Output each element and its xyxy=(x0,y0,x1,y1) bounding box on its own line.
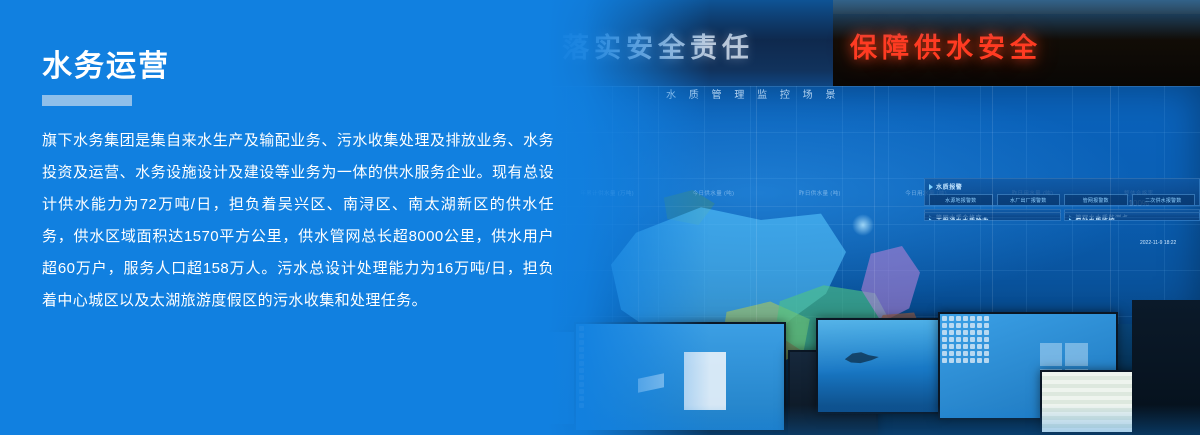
water-operations-banner: 年累计供水量 (万吨) 今日供水量 (吨) 昨日供水量 (吨) 今日用水量 (吨… xyxy=(0,0,1200,435)
photo-scene: 年累计供水量 (万吨) 今日供水量 (吨) 昨日供水量 (吨) 今日用水量 (吨… xyxy=(520,0,1200,435)
monitor-screen xyxy=(818,320,940,412)
page-title: 水务运营 xyxy=(42,48,554,86)
body-copy: 旗下水务集团是集自来水生产及输配业务、污水收集处理及排放业务、水务投资及运营、水… xyxy=(42,125,554,317)
text-block: 水务运营 旗下水务集团是集自来水生产及输配业务、污水收集处理及排放业务、水务投资… xyxy=(42,48,554,317)
title-underline xyxy=(42,95,132,106)
corner-timestamp: 2022-11-9 18:22 xyxy=(1140,240,1176,246)
desk-monitor-underwater xyxy=(816,318,942,414)
control-room-photo: 年累计供水量 (万吨) 今日供水量 (吨) 昨日供水量 (吨) 今日用水量 (吨… xyxy=(520,0,1200,435)
underwater-wallpaper xyxy=(818,320,940,412)
desktop-icon-grid xyxy=(942,316,989,363)
